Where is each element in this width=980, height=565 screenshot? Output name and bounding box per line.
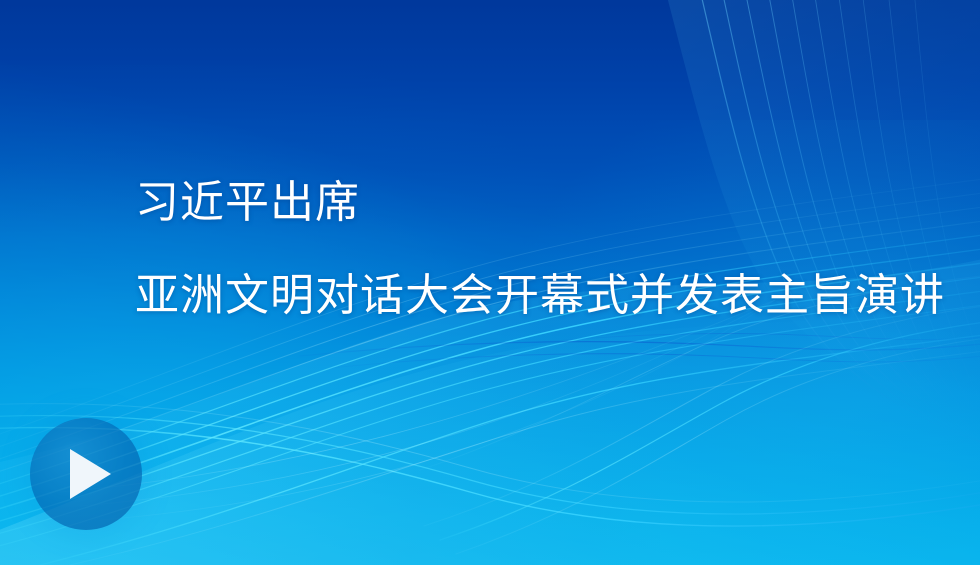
play-button[interactable] <box>30 418 142 530</box>
headline: 习近平出席 亚洲文明对话大会开幕式并发表主旨演讲 <box>135 178 935 321</box>
headline-line-2: 亚洲文明对话大会开幕式并发表主旨演讲 <box>135 271 935 320</box>
video-poster[interactable]: 习近平出席 亚洲文明对话大会开幕式并发表主旨演讲 <box>0 0 980 565</box>
play-icon <box>70 449 111 499</box>
headline-line-1: 习近平出席 <box>135 178 935 227</box>
